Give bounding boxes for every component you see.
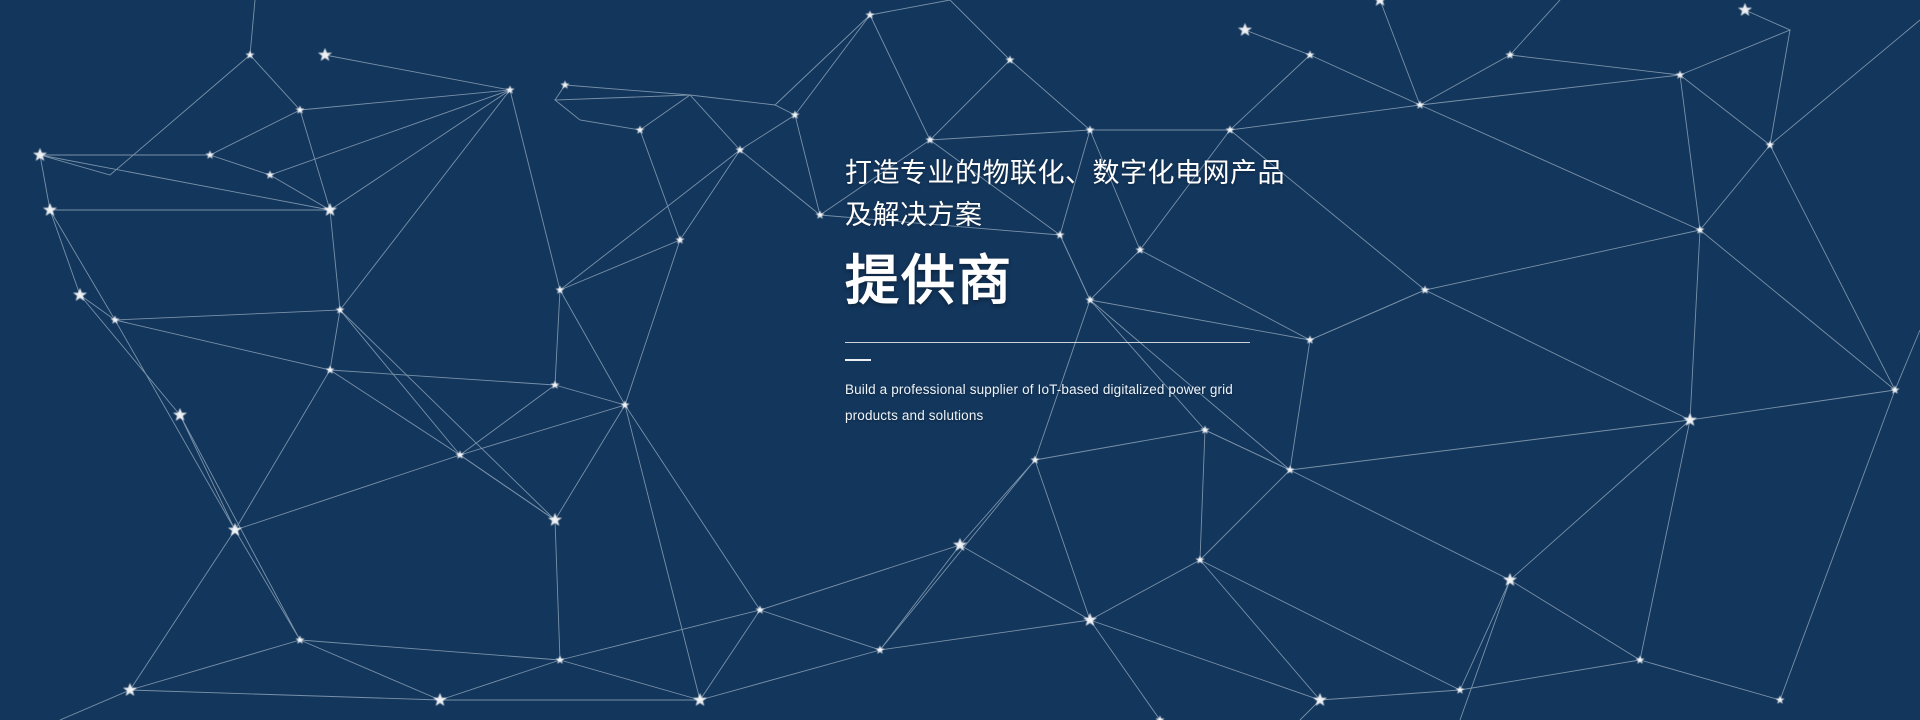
subtitle-line-1: Build a professional supplier of IoT-bas…: [845, 377, 1485, 403]
hero-content: 打造专业的物联化、数字化电网产品 及解决方案 提供商 Build a profe…: [845, 152, 1485, 429]
headline-line-1: 打造专业的物联化、数字化电网产品: [845, 152, 1485, 194]
headline-emphasis: 提供商: [845, 248, 1485, 314]
hero-banner: 打造专业的物联化、数字化电网产品 及解决方案 提供商 Build a profe…: [0, 0, 1920, 720]
subtitle-line-2: products and solutions: [845, 403, 1485, 429]
divider-short: [845, 359, 871, 361]
divider-long: [845, 342, 1250, 343]
headline-line-2: 及解决方案: [845, 194, 1485, 236]
